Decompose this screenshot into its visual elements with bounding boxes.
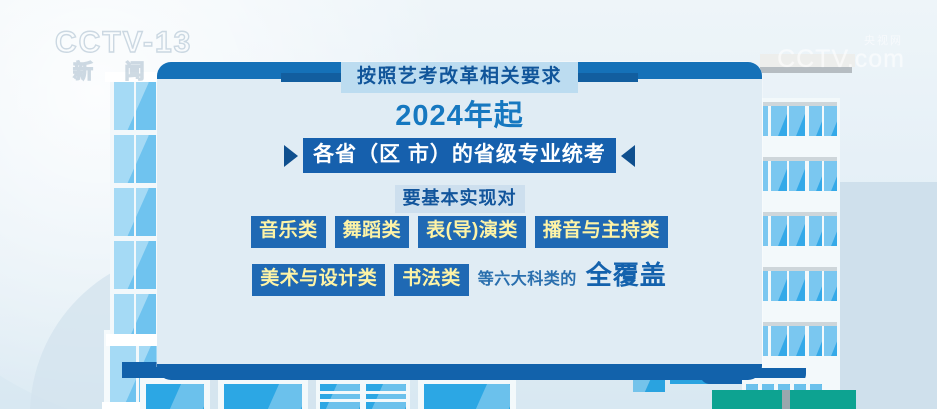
- subtitle-row: 要基本实现对: [157, 185, 762, 213]
- category-tag-row-1: 音乐类 舞蹈类 表(导)演类 播音与主持类: [157, 216, 762, 248]
- channel-watermark-logo: CCTV-13: [55, 28, 200, 58]
- category-tag: 舞蹈类: [335, 216, 410, 248]
- street-teal-block-right: [790, 390, 856, 409]
- street-teal-block-left: [712, 390, 782, 409]
- news-graphic-frame: 按照艺考改革相关要求 2024年起 各省（区 市）的省级专业统考 要基本实现对 …: [0, 0, 937, 409]
- headline-text: 按照艺考改革相关要求: [341, 62, 578, 93]
- headline-rule-right: [578, 73, 638, 82]
- street-building-1: [140, 378, 210, 409]
- category-tag: 书法类: [394, 264, 469, 296]
- category-tag-row-2: 美术与设计类 书法类 等六大科类的 全覆盖: [157, 255, 762, 296]
- info-card: 按照艺考改革相关要求 2024年起 各省（区 市）的省级专业统考 要基本实现对 …: [157, 62, 762, 366]
- category-tag: 播音与主持类: [535, 216, 668, 248]
- subtitle-text: 要基本实现对: [395, 185, 525, 213]
- site-watermark: 央视网 CCTV.com: [777, 36, 905, 72]
- channel-watermark-sub: 新 闻: [73, 61, 200, 83]
- right-building-illustration: [760, 98, 840, 409]
- headline-rule-left: [281, 73, 341, 82]
- headline-row: 按照艺考改革相关要求: [157, 62, 762, 93]
- year-text: 2024年起: [157, 102, 762, 131]
- site-watermark-url: CCTV.com: [777, 47, 905, 72]
- street-building-2: [218, 378, 308, 409]
- arrow-left-icon: [621, 145, 635, 167]
- category-tag: 美术与设计类: [252, 264, 385, 296]
- street-teal-divider: [782, 390, 790, 409]
- channel-watermark: CCTV-13 新 闻: [55, 28, 200, 94]
- info-card-bottom-bar: [157, 364, 762, 380]
- arrow-right-icon: [284, 145, 298, 167]
- street-building-4: [418, 378, 516, 409]
- street-building-3: [316, 378, 410, 409]
- category-tag: 音乐类: [251, 216, 326, 248]
- pill-row: 各省（区 市）的省级专业统考: [157, 138, 762, 173]
- tail-emphasis-text: 全覆盖: [586, 255, 667, 292]
- tail-text: 等六大科类的: [478, 265, 577, 289]
- category-tags: 音乐类 舞蹈类 表(导)演类 播音与主持类 美术与设计类 书法类 等六大科类的 …: [157, 216, 762, 303]
- left-tower-illustration: [110, 72, 160, 409]
- pill-text: 各省（区 市）的省级专业统考: [303, 138, 616, 173]
- site-watermark-cn: 央视网: [777, 36, 903, 47]
- category-tag: 表(导)演类: [418, 216, 526, 248]
